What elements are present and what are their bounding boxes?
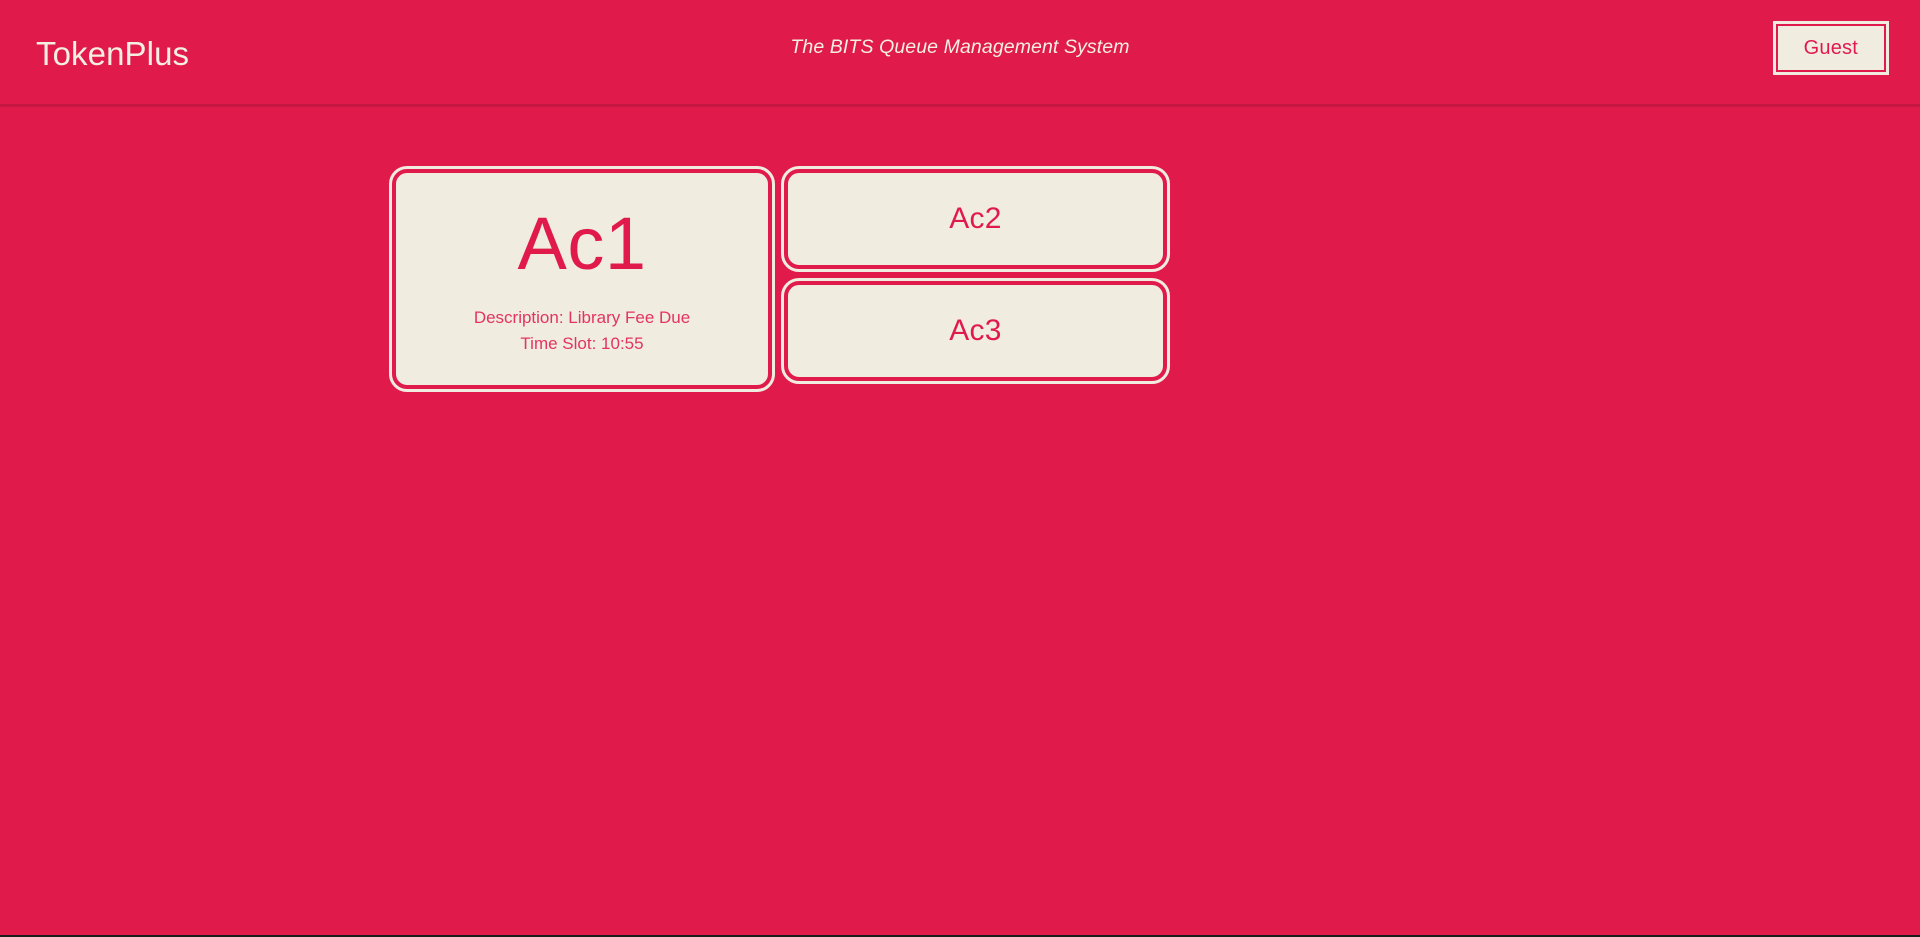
account-card-ac3[interactable]: Ac3 — [787, 284, 1164, 378]
account-card-time-slot: Time Slot: 10:55 — [474, 331, 690, 357]
account-card-active[interactable]: Ac1 Description: Library Fee Due Time Sl… — [395, 172, 769, 386]
main-content: Ac1 Description: Library Fee Due Time Sl… — [0, 107, 1920, 937]
app-brand-logo: TokenPlus — [36, 37, 189, 70]
app-tagline: The BITS Queue Management System — [0, 36, 1920, 59]
guest-account-button[interactable]: Guest — [1776, 24, 1886, 72]
account-card-meta: Description: Library Fee Due Time Slot: … — [474, 305, 690, 357]
account-card-list: Ac2 Ac3 — [787, 172, 1164, 378]
account-card-title: Ac1 — [517, 205, 646, 283]
account-card-ac2[interactable]: Ac2 — [787, 172, 1164, 266]
account-card-description: Description: Library Fee Due — [474, 305, 690, 331]
account-card-title: Ac3 — [949, 316, 1002, 346]
account-card-title: Ac2 — [949, 204, 1002, 234]
app-header: TokenPlus The BITS Queue Management Syst… — [0, 0, 1920, 107]
token-card-area: Ac1 Description: Library Fee Due Time Sl… — [395, 172, 1164, 386]
